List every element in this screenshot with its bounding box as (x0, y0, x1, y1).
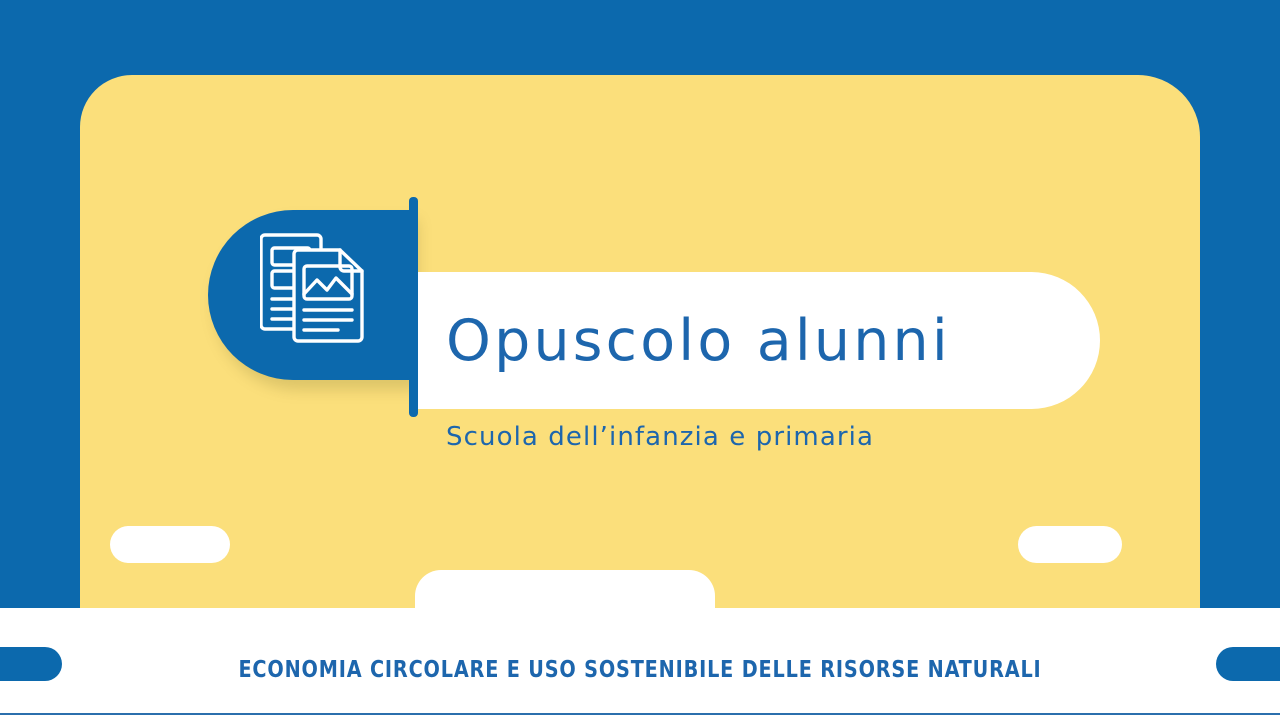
bottom-rule (0, 713, 1280, 715)
decorative-pill-left (110, 526, 230, 563)
slide-canvas: Opuscolo alunni Scuola dell’infanzia e p… (0, 0, 1280, 720)
page-title: Opuscolo alunni (446, 282, 1086, 400)
footer-caption: ECONOMIA CIRCOLARE E USO SOSTENIBILE DEL… (45, 657, 1235, 683)
decorative-pill-right (1018, 526, 1122, 563)
icon-badge (208, 210, 412, 380)
vertical-accent-bar (409, 197, 418, 417)
page-subtitle: Scuola dell’infanzia e primaria (446, 422, 874, 452)
